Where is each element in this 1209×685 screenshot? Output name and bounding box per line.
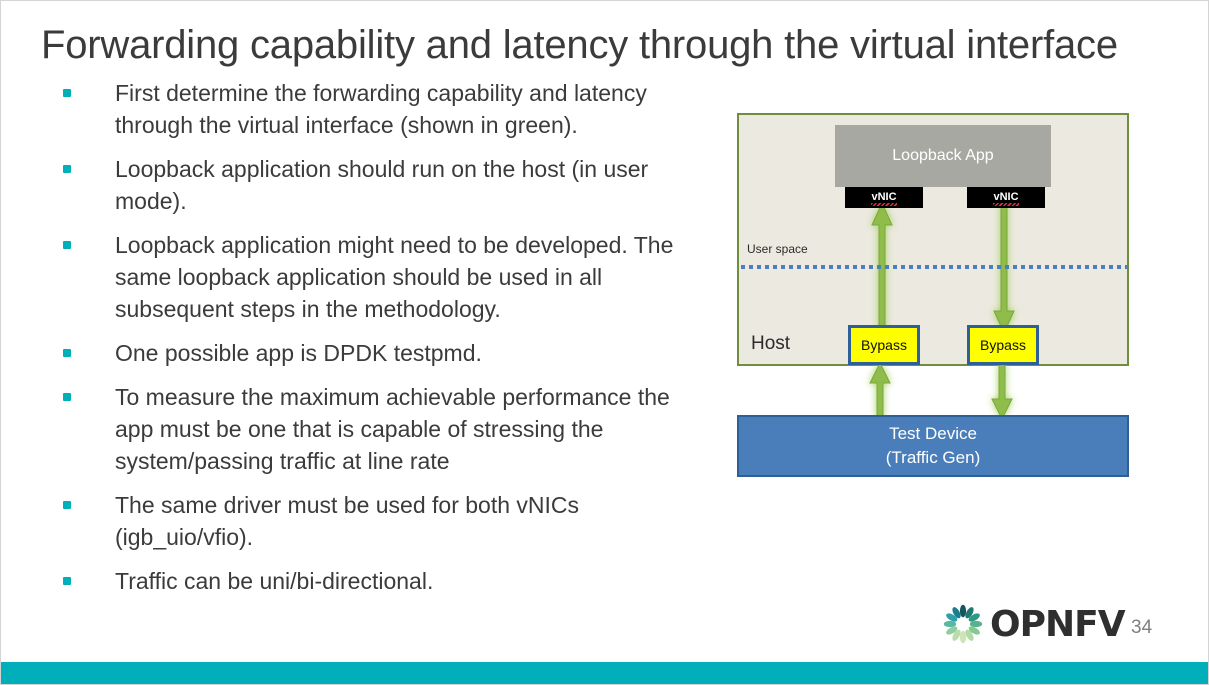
bullet-text: Traffic can be uni/bi-directional. [115, 565, 713, 597]
bypass-left-box: Bypass [848, 325, 920, 365]
bullet-marker-icon [63, 165, 71, 173]
test-device-line2: (Traffic Gen) [886, 446, 980, 470]
opnfv-flower-icon [942, 603, 984, 645]
arrow-bypass-left-up-icon [869, 363, 891, 419]
list-item: First determine the forwarding capabilit… [63, 77, 713, 141]
architecture-diagram: Host User space Loopback App vNIC vNIC B… [737, 113, 1131, 483]
list-item: One possible app is DPDK testpmd. [63, 337, 713, 369]
bullet-marker-icon [63, 89, 71, 97]
bullet-marker-icon [63, 501, 71, 509]
list-item: Traffic can be uni/bi-directional. [63, 565, 713, 597]
bullet-text: First determine the forwarding capabilit… [115, 77, 713, 141]
vnic-right-label: vNIC [993, 191, 1018, 204]
bullet-marker-icon [63, 393, 71, 401]
slide: Forwarding capability and latency throug… [0, 0, 1209, 685]
list-item: The same driver must be used for both vN… [63, 489, 713, 553]
page-number: 34 [1131, 617, 1152, 639]
list-item: Loopback application should run on the h… [63, 153, 713, 217]
bullet-text: Loopback application might need to be de… [115, 229, 713, 325]
user-space-label: User space [747, 242, 808, 256]
bullet-text: To measure the maximum achievable perfor… [115, 381, 713, 477]
bullet-marker-icon [63, 349, 71, 357]
opnfv-logo: OPNFV [942, 603, 1125, 645]
list-item: Loopback application might need to be de… [63, 229, 713, 325]
list-item: To measure the maximum achievable perfor… [63, 381, 713, 477]
bullet-text: One possible app is DPDK testpmd. [115, 337, 713, 369]
user-kernel-divider [741, 265, 1127, 269]
test-device-box: Test Device (Traffic Gen) [737, 415, 1129, 477]
bullet-list: First determine the forwarding capabilit… [63, 77, 713, 609]
footer-bar [1, 662, 1208, 684]
page-title: Forwarding capability and latency throug… [41, 21, 1151, 69]
host-label: Host [751, 333, 790, 355]
loopback-app-box: Loopback App [835, 125, 1051, 187]
bullet-marker-icon [63, 577, 71, 585]
bypass-right-box: Bypass [967, 325, 1039, 365]
vnic-left-box: vNIC [845, 187, 923, 208]
arrow-bypass-right-down-icon [991, 363, 1013, 419]
host-container: Host User space Loopback App vNIC vNIC B… [737, 113, 1129, 366]
bullet-text: The same driver must be used for both vN… [115, 489, 713, 553]
vnic-right-box: vNIC [967, 187, 1045, 208]
bullet-marker-icon [63, 241, 71, 249]
bullet-text: Loopback application should run on the h… [115, 153, 713, 217]
test-device-line1: Test Device [889, 422, 977, 446]
vnic-left-label: vNIC [871, 191, 896, 204]
opnfv-wordmark: OPNFV [990, 604, 1125, 645]
